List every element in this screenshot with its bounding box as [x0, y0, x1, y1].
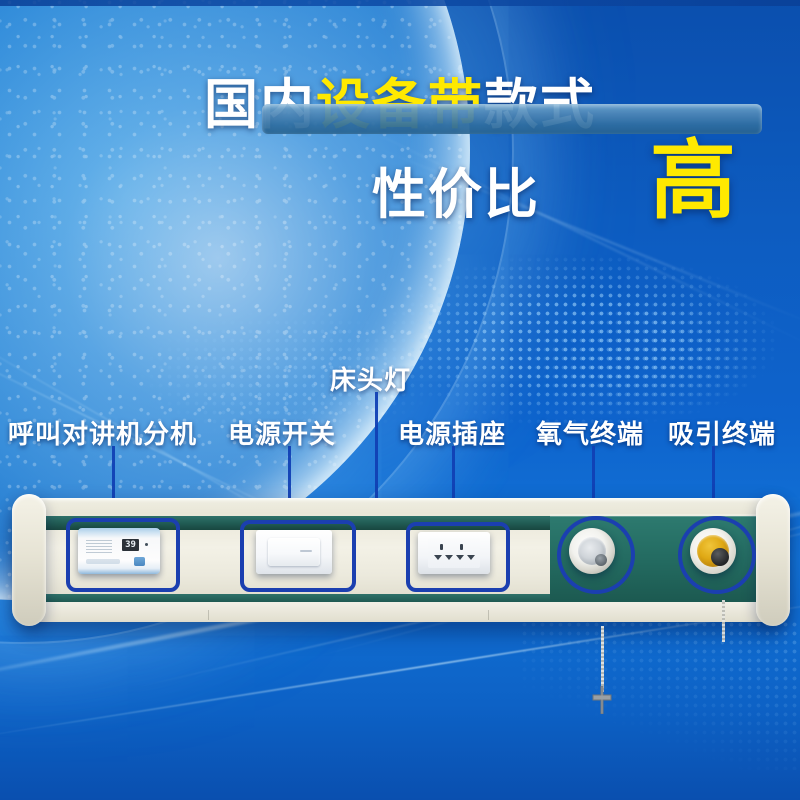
top-edge-strip	[0, 0, 800, 6]
callout-label-suction: 吸引终端	[668, 414, 776, 451]
highlight-circle-oxygen	[557, 516, 635, 594]
pull-cord[interactable]	[601, 626, 604, 692]
pull-cord-handle-icon[interactable]	[590, 686, 614, 714]
bed-lamp-diffuser-cover	[262, 104, 762, 134]
panel-end-cap-right	[756, 494, 790, 626]
highlight-box-power-socket	[406, 522, 510, 592]
highlight-circle-suction	[678, 516, 756, 594]
headline-block: 国内设备带款式 性价比 高	[0, 78, 800, 234]
highlight-box-intercom	[66, 518, 180, 592]
callout-label-oxygen: 氧气终端	[536, 414, 644, 451]
callout-label-power-switch: 电源开关	[228, 414, 336, 451]
pull-cord-secondary[interactable]	[722, 600, 725, 642]
highlight-box-power-switch	[240, 520, 356, 592]
callout-label-intercom: 呼叫对讲机分机	[8, 414, 197, 451]
panel-seam	[208, 610, 209, 620]
panel-end-cap-left	[12, 494, 46, 626]
headline-text-high: 高	[650, 138, 738, 224]
headline-line-2: 性价比 高	[0, 154, 800, 234]
panel-seam	[488, 610, 489, 620]
halftone-dot-pattern	[520, 620, 800, 770]
banner-canvas: 国内设备带款式 性价比 高 呼叫对讲机分机 电源开关 床头灯 电源插座 氧气终端…	[0, 0, 800, 800]
panel-lower-rail	[18, 602, 784, 622]
headline-text-value: 性价比	[372, 168, 540, 222]
callout-label-bed-lamp: 床头灯	[330, 360, 411, 397]
